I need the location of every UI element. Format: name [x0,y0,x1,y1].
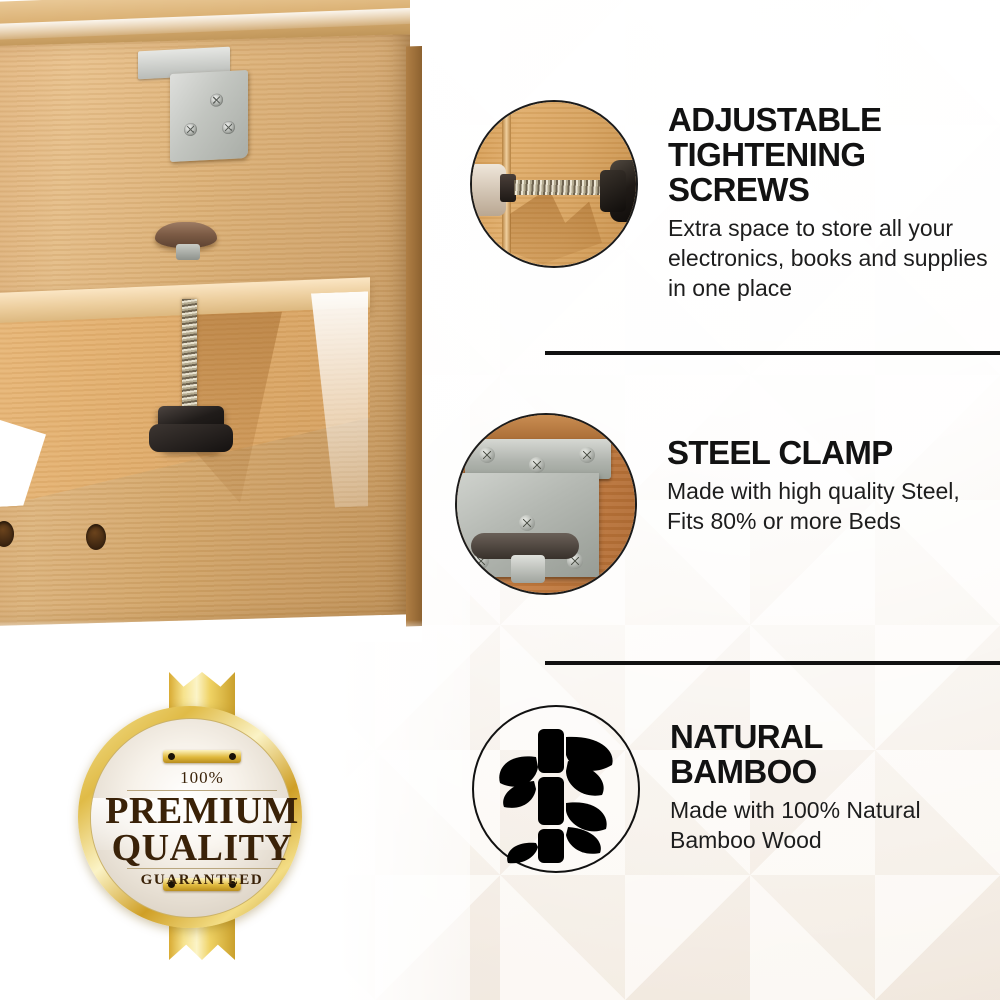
photo-bottom-fade [0,620,422,642]
clamp-screw-icon [579,447,595,463]
badge-guarantee: GUARANTEED [62,872,342,889]
feature-row-natural-bamboo: NATURAL BAMBOO Made with 100% Natural Ba… [472,705,992,873]
badge-line1: PREMIUM [62,792,342,830]
product-photo [0,0,422,642]
feature-description: Extra space to store all your electronic… [668,213,988,303]
badge-line2: QUALITY [62,829,342,867]
brown-knob-nut [176,244,200,260]
clamp-screw-icon [519,515,535,531]
bracket-screw-icon [184,123,197,137]
threaded-screw-rod [182,299,197,417]
feature-row-adjustable-screws: ADJUSTABLE TIGHTENING SCREWS Extra space… [470,100,990,303]
screw-black-knob [610,160,638,222]
badge-percent: 100% [62,768,342,788]
section-divider [545,351,1000,355]
wood-top-strip [457,415,635,441]
clamp-bottom-nut [511,555,545,583]
bracket-screw-icon [222,121,235,135]
drilled-hole [86,524,106,550]
bracket-screw-icon [210,93,223,107]
bamboo-panel-right-edge [406,46,422,626]
feature-title: NATURAL BAMBOO [670,719,970,789]
section-divider [545,661,1000,665]
feature-description: Made with high quality Steel, Fits 80% o… [667,476,977,536]
ribbon-eyelet-icon [229,753,236,760]
feature-description: Made with 100% Natural Bamboo Wood [670,795,970,855]
adjustable-screw-photo-icon [470,100,638,268]
metal-bracket-face [170,70,248,162]
infographic-page: ADJUSTABLE TIGHTENING SCREWS Extra space… [0,0,1000,1000]
bamboo-glyph [474,707,634,867]
feature-row-steel-clamp: STEEL CLAMP Made with high quality Steel… [455,413,995,595]
badge-ribbon-bar-top [163,750,241,763]
feature-title: ADJUSTABLE TIGHTENING SCREWS [668,102,988,207]
feature-text-block: STEEL CLAMP Made with high quality Steel… [667,413,977,536]
clamp-screw-icon [479,447,495,463]
badge-rule-bottom [127,868,277,869]
bamboo-icon [472,705,640,873]
feature-text-block: NATURAL BAMBOO Made with 100% Natural Ba… [670,705,970,855]
ribbon-eyelet-icon [168,753,175,760]
clamp-screw-icon [529,457,545,473]
feature-text-block: ADJUSTABLE TIGHTENING SCREWS Extra space… [668,100,988,303]
premium-quality-badge: 100% PREMIUM QUALITY GUARANTEED [62,672,342,960]
feature-title: STEEL CLAMP [667,435,977,470]
black-tightening-knob [158,406,224,450]
steel-clamp-photo-icon [455,413,637,595]
